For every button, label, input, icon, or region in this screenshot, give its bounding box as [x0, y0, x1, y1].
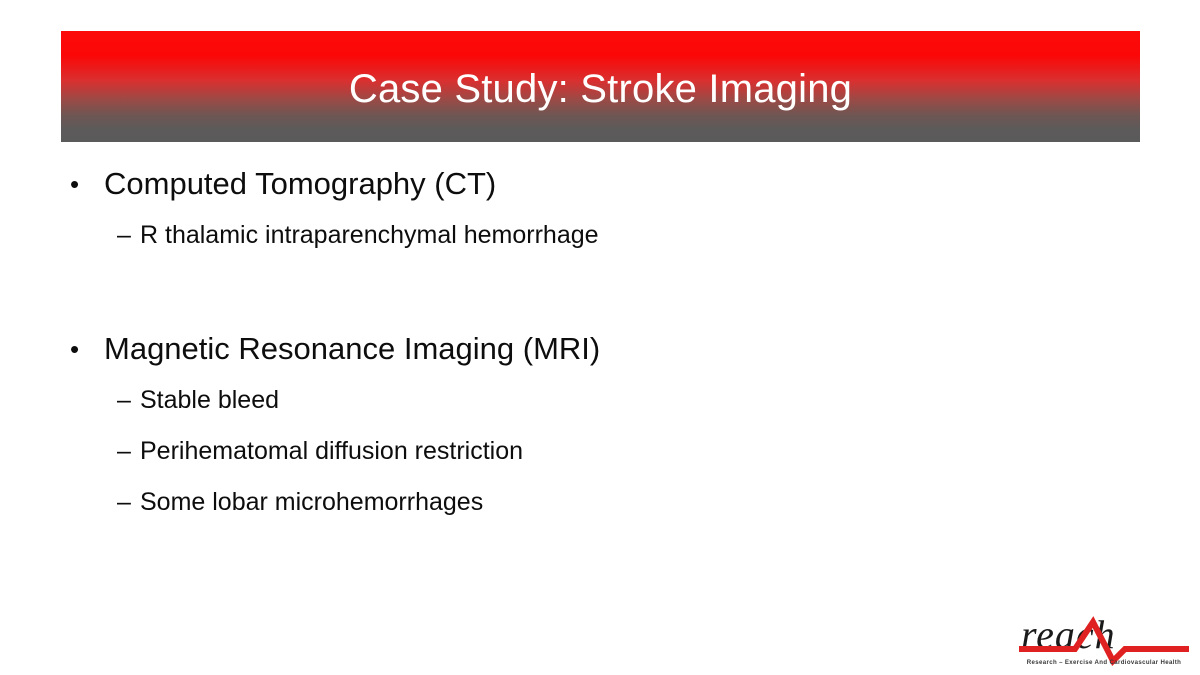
bullet-item-level1: • Computed Tomography (CT)	[0, 158, 1200, 210]
bullet-dash-icon: –	[117, 426, 131, 477]
bullet-item-level1: • Magnetic Resonance Imaging (MRI)	[0, 323, 1200, 375]
title-banner: Case Study: Stroke Imaging	[61, 31, 1140, 142]
reach-logo: reach Research – Exercise And Cardiovasc…	[1013, 612, 1195, 672]
svg-text:Research – Exercise And Cardio: Research – Exercise And Cardiovascular H…	[1027, 659, 1181, 666]
slide-canvas: Case Study: Stroke Imaging • Computed To…	[0, 0, 1200, 675]
bullet-section-ct: • Computed Tomography (CT) – R thalamic …	[0, 158, 1200, 261]
bullet-dot-icon: •	[70, 323, 79, 375]
bullet-heading-label: Computed Tomography (CT)	[104, 158, 496, 210]
bullet-dot-icon: •	[70, 158, 79, 210]
bullet-sub-label: Some lobar microhemorrhages	[140, 477, 483, 528]
bullet-item-level2: – R thalamic intraparenchymal hemorrhage	[0, 210, 1200, 261]
page-title: Case Study: Stroke Imaging	[349, 69, 852, 109]
bullet-section-mri: • Magnetic Resonance Imaging (MRI) – Sta…	[0, 323, 1200, 528]
bullet-heading-label: Magnetic Resonance Imaging (MRI)	[104, 323, 600, 375]
bullet-item-level2: – Perihematomal diffusion restriction	[0, 426, 1200, 477]
section-spacer	[0, 261, 1200, 323]
bullet-sub-label: Perihematomal diffusion restriction	[140, 426, 523, 477]
bullet-sub-label: Stable bleed	[140, 375, 279, 426]
bullet-dash-icon: –	[117, 477, 131, 528]
bullet-item-level2: – Some lobar microhemorrhages	[0, 477, 1200, 528]
bullet-item-level2: – Stable bleed	[0, 375, 1200, 426]
bullet-sub-label: R thalamic intraparenchymal hemorrhage	[140, 210, 599, 261]
bullet-dash-icon: –	[117, 375, 131, 426]
slide-body: • Computed Tomography (CT) – R thalamic …	[0, 158, 1200, 528]
bullet-dash-icon: –	[117, 210, 131, 261]
